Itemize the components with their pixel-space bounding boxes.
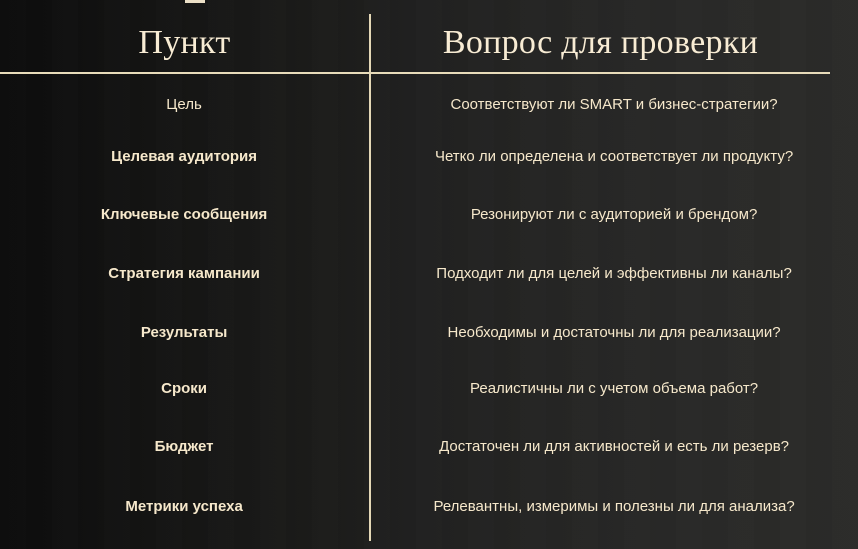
table-cell-item: Сроки (0, 360, 368, 416)
table-cell-item: Стратегия кампании (0, 242, 368, 304)
table-row: СрокиРеалистичны ли с учетом объема рабо… (0, 360, 858, 416)
table-cell-question: Релевантны, измеримы и полезны ли для ан… (370, 476, 858, 536)
table-cell-item: Метрики успеха (0, 476, 368, 536)
column-header-item: Пункт (0, 18, 369, 68)
table-cell-question: Четко ли определена и соответствует ли п… (370, 126, 858, 186)
table-cell-item: Цель (0, 82, 368, 126)
table-cell-question: Реалистичны ли с учетом объема работ? (370, 360, 858, 416)
table-row: Стратегия кампанииПодходит ли для целей … (0, 242, 858, 304)
table-row: РезультатыНеобходимы и достаточны ли для… (0, 304, 858, 360)
table-row: Метрики успехаРелевантны, измеримы и пол… (0, 476, 858, 536)
table-cell-item: Бюджет (0, 416, 368, 476)
column-header-question: Вопрос для проверки (371, 18, 830, 68)
table-row: ЦельСоответствуют ли SMART и бизнес-стра… (0, 82, 858, 126)
table-body: ЦельСоответствуют ли SMART и бизнес-стра… (0, 74, 858, 549)
table-cell-question: Достаточен ли для активностей и есть ли … (370, 416, 858, 476)
table-row: Ключевые сообщенияРезонируют ли с аудито… (0, 186, 858, 242)
table-cell-item: Целевая аудитория (0, 126, 368, 186)
table-cell-question: Резонируют ли с аудиторией и брендом? (370, 186, 858, 242)
slide-canvas: Пункт Вопрос для проверки ЦельСоответств… (0, 0, 858, 549)
clipped-title-glyph (185, 0, 205, 3)
table-cell-question: Необходимы и достаточны ли для реализаци… (370, 304, 858, 360)
table-row: БюджетДостаточен ли для активностей и ес… (0, 416, 858, 476)
table-cell-item: Результаты (0, 304, 368, 360)
table-row: Целевая аудиторияЧетко ли определена и с… (0, 126, 858, 186)
table-cell-question: Соответствуют ли SMART и бизнес-стратеги… (370, 82, 858, 126)
table-cell-question: Подходит ли для целей и эффективны ли ка… (370, 242, 858, 304)
table-cell-item: Ключевые сообщения (0, 186, 368, 242)
